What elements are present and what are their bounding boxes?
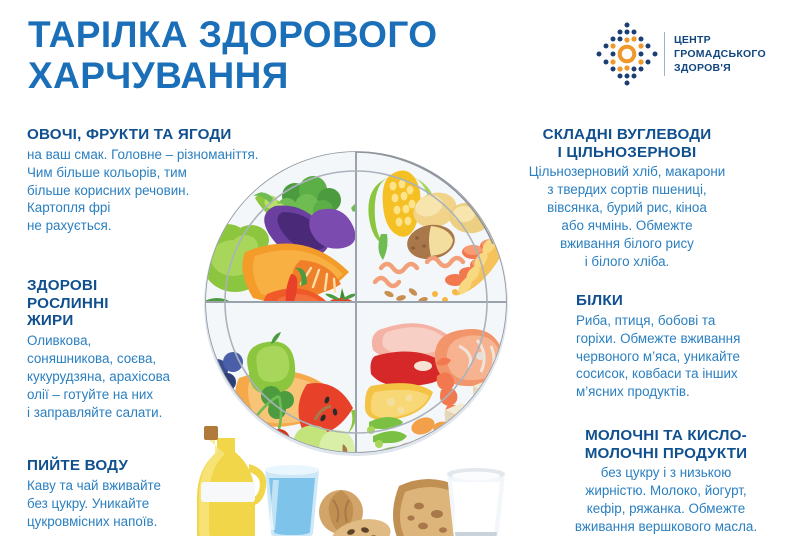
logo-text: ЦЕНТР ГРОМАДСЬКОГО ЗДОРОВ'Я [674,33,766,76]
logo-divider [664,32,665,76]
healthy-plate-illustration [183,134,529,536]
block-dairy: МОЛОЧНІ ТА КИСЛО- МОЛОЧНІ ПРОДУКТИ без ц… [552,427,780,536]
block-protein-body: Риба, птиця, бобові та горіхи. Обмежте в… [576,312,780,402]
logo: ЦЕНТР ГРОМАДСЬКОГО ЗДОРОВ'Я [592,18,784,90]
block-protein-heading: БІЛКИ [576,292,780,310]
infographic-poster: ТАРІЛКА ЗДОРОВОГО ХАРЧУВАННЯ [0,0,789,555]
page-title: ТАРІЛКА ЗДОРОВОГО ХАРЧУВАННЯ [28,14,568,97]
block-dairy-heading: МОЛОЧНІ ТА КИСЛО- МОЛОЧНІ ПРОДУКТИ [552,427,780,462]
block-protein: БІЛКИ Риба, птиця, бобові та горіхи. Обм… [576,292,780,401]
milk-glass-graphic [447,468,505,536]
water-glass-graphic [265,465,319,536]
logo-dots-icon [592,19,662,89]
block-dairy-body: без цукру і з низькою жирністю. Молоко, … [552,464,780,536]
oil-bottle-graphic [197,426,266,536]
walnuts-graphic [319,490,394,536]
